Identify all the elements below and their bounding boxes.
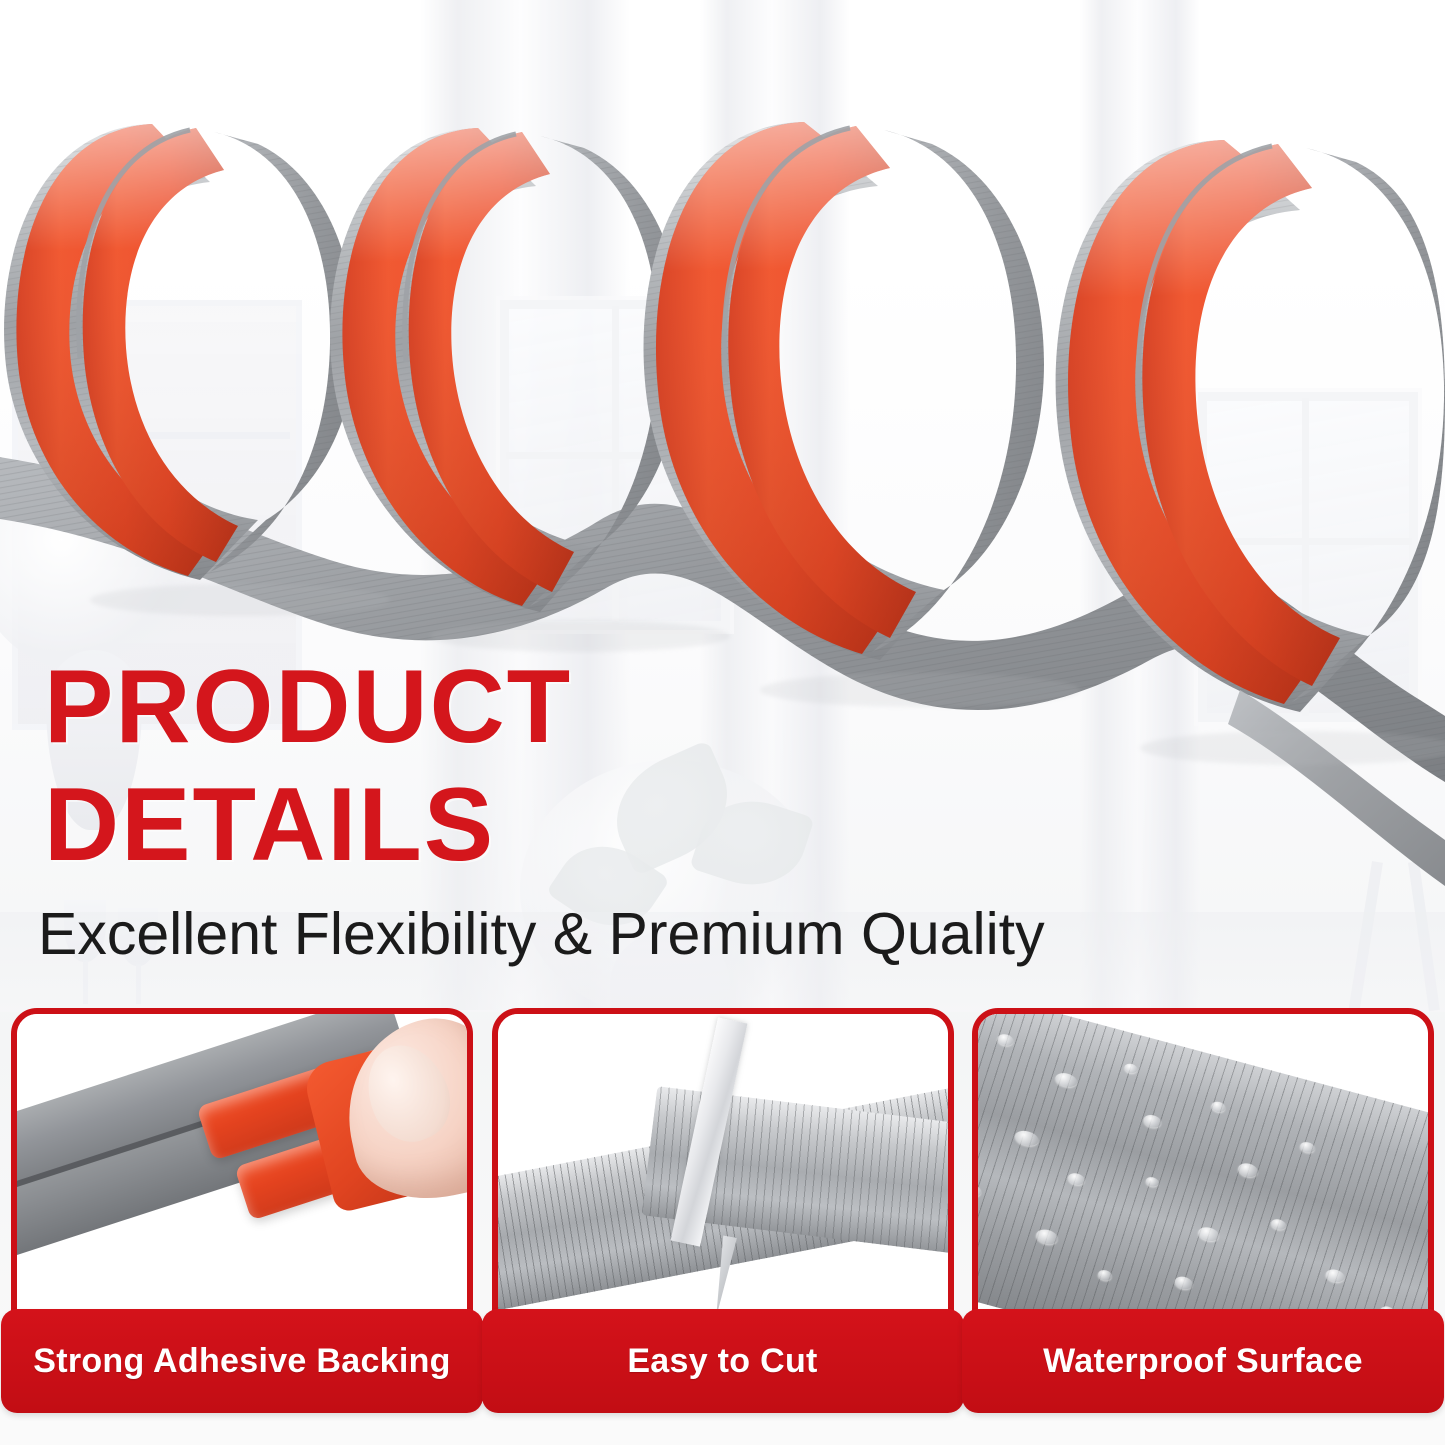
- water-droplet: [978, 1183, 982, 1198]
- card-caption-text: Strong Adhesive Backing: [33, 1342, 451, 1381]
- water-droplet: [1173, 1275, 1193, 1291]
- feature-card-row: Strong Adhesive Backing Easy to Cut: [0, 1003, 1445, 1433]
- card-caption-bar: Easy to Cut: [482, 1309, 964, 1413]
- water-droplet: [1237, 1161, 1260, 1179]
- card-caption-text: Easy to Cut: [627, 1342, 817, 1381]
- product-details-infographic: PRODUCT DETAILS Excellent Flexibility & …: [0, 0, 1445, 1445]
- page-title-line-2: DETAILS: [44, 773, 1144, 877]
- card-caption-bar: Waterproof Surface: [962, 1309, 1444, 1413]
- water-droplet: [1324, 1268, 1345, 1285]
- coil-shadow-4: [1140, 731, 1445, 765]
- water-droplet: [1270, 1218, 1287, 1232]
- coil-shadow-1: [90, 584, 390, 616]
- water-droplet: [1067, 1172, 1086, 1187]
- water-droplet: [1034, 1227, 1059, 1246]
- water-droplet: [1097, 1269, 1113, 1282]
- coil-shadow-2: [430, 620, 730, 652]
- page-subtitle: Excellent Flexibility & Premium Quality: [38, 902, 1045, 966]
- water-droplet: [1210, 1100, 1226, 1113]
- feature-card-waterproof: Waterproof Surface: [970, 1003, 1436, 1413]
- water-droplet: [1013, 1128, 1040, 1148]
- feature-card-adhesive: Strong Adhesive Backing: [9, 1003, 475, 1413]
- water-droplet: [1123, 1062, 1138, 1074]
- water-droplet: [1299, 1141, 1316, 1155]
- page-title-line-1: PRODUCT: [44, 655, 1144, 759]
- water-droplet: [996, 1033, 1014, 1048]
- feature-card-cut: Easy to Cut: [490, 1003, 956, 1413]
- water-droplet: [1054, 1071, 1079, 1089]
- water-droplet: [1197, 1225, 1221, 1243]
- water-droplet: [1142, 1113, 1162, 1129]
- card-caption-bar: Strong Adhesive Backing: [1, 1309, 483, 1413]
- water-droplet: [1145, 1176, 1160, 1188]
- page-title: PRODUCT DETAILS: [44, 655, 1144, 877]
- card-caption-text: Waterproof Surface: [1043, 1342, 1363, 1381]
